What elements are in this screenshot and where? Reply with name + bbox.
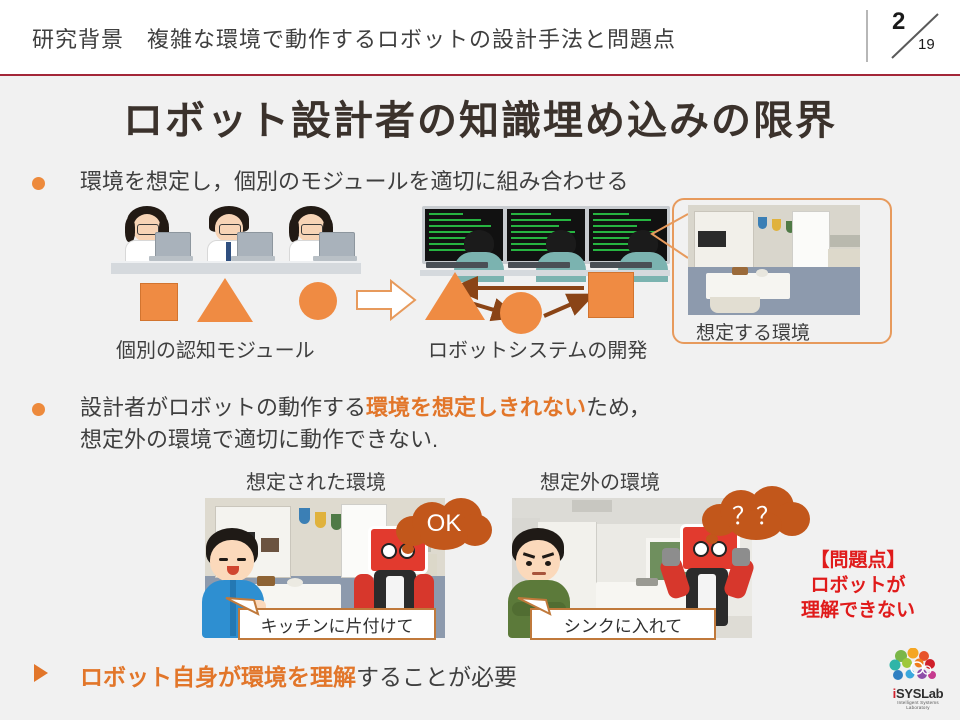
bullet-text-2-line2: 想定外の環境で適切に動作できない. [80, 424, 438, 456]
conclusion-text: ロボット自身が環境を理解することが必要 [80, 658, 517, 692]
researcher-1 [111, 204, 189, 274]
logo-name: iSYSLab [885, 686, 951, 701]
desk [193, 261, 279, 274]
module-shape-triangle [197, 278, 253, 322]
bullet2-plain-a: 設計者がロボットの動作する [80, 395, 366, 420]
conclusion-highlight: ロボット自身が環境を理解 [80, 664, 356, 690]
speech-cloud-ok: OK [392, 496, 496, 554]
keyboard [590, 262, 652, 268]
scene-label-right: 想定外の環境 [540, 466, 660, 495]
bullet-text-2-line1: 設計者がロボットの動作する環境を想定しきれないため， [80, 392, 651, 424]
command-box-tail-left [224, 596, 260, 618]
callout-caption: 想定する環境 [696, 318, 810, 345]
command-box-tail-right [516, 596, 552, 618]
isyslab-logo: iSYSLab Intelligent Systems Laboratory [885, 648, 951, 712]
eye-left [526, 561, 532, 566]
page-title: ロボット設計者の知識埋め込みの限界 [0, 88, 960, 146]
slide-header: 研究背景 複雑な環境で動作するロボットの設計手法と問題点 2 19 [0, 0, 960, 75]
conclusion-marker [34, 664, 48, 682]
bullet-marker-1 [32, 177, 45, 190]
command-box-right: シンクに入れて [530, 608, 716, 640]
speech-cloud-ok-text: OK [392, 510, 496, 538]
header-rule [0, 74, 960, 76]
researcher-2 [193, 204, 271, 274]
bullet-marker-2 [32, 403, 45, 416]
conclusion-plain: することが必要 [356, 664, 517, 690]
header-divider [866, 10, 868, 62]
transition-arrow-icon [355, 278, 417, 322]
robot-hand-left [662, 548, 680, 566]
laptop-screen [237, 232, 273, 258]
face [210, 540, 254, 582]
logo-graphic-icon [885, 648, 951, 686]
left-diagram-caption: 個別の認知モジュール [116, 334, 315, 363]
scene-label-left: 想定された環境 [246, 466, 386, 495]
page-number: 2 19 [880, 4, 950, 68]
system-shape-circle [500, 292, 542, 334]
keyboard [426, 262, 488, 268]
laptop-screen [155, 232, 191, 258]
hair-side [125, 218, 135, 242]
eye-right [237, 558, 246, 561]
laptop-screen [319, 232, 355, 258]
command-box-left: キッチンに片付けて [238, 608, 436, 640]
researchers-illustration [105, 200, 355, 290]
logo-subtitle: Intelligent Systems Laboratory [885, 700, 951, 710]
callout-tail-icon [648, 212, 688, 262]
problem-line-1: 【問題点】 [760, 548, 956, 573]
researcher-3 [275, 204, 353, 274]
bullet2-plain-b: ため， [586, 395, 651, 420]
hair-side [289, 218, 299, 242]
right-diagram-caption: ロボットシステムの開発 [428, 334, 647, 363]
eye-right [545, 561, 551, 566]
robot-hand-right [732, 548, 750, 566]
module-shape-circle [299, 282, 337, 320]
module-shape-square [140, 283, 178, 321]
keyboard [508, 262, 570, 268]
speech-cloud-question: ？？ [700, 484, 812, 544]
problem-statement: 【問題点】 ロボットが 理解できない [760, 548, 956, 623]
bullet2-highlight: 環境を想定しきれない [366, 395, 586, 420]
page-total: 19 [918, 36, 935, 53]
command-text-right: シンクに入れて [564, 612, 683, 637]
desk [275, 261, 361, 274]
face [516, 540, 560, 582]
eye-left [219, 558, 228, 561]
problem-line-2: ロボットが [760, 573, 956, 598]
problem-line-3: 理解できない [760, 598, 956, 623]
system-shape-triangle [425, 272, 485, 320]
system-shape-square [588, 272, 634, 318]
slide-canvas: 研究背景 複雑な環境で動作するロボットの設計手法と問題点 2 19 ロボット設計… [0, 0, 960, 720]
mouth-frown [532, 572, 546, 575]
header-title: 研究背景 複雑な環境で動作するロボットの設計手法と問題点 [32, 22, 676, 54]
command-text-left: キッチンに片付けて [261, 612, 414, 637]
speech-cloud-question-text: ？？ [700, 496, 812, 531]
desk [111, 261, 197, 274]
page-current: 2 [892, 8, 905, 36]
assumed-environment-photo [688, 205, 860, 315]
bullet-text-1: 環境を想定し，個別のモジュールを適切に組み合わせる [80, 166, 628, 198]
